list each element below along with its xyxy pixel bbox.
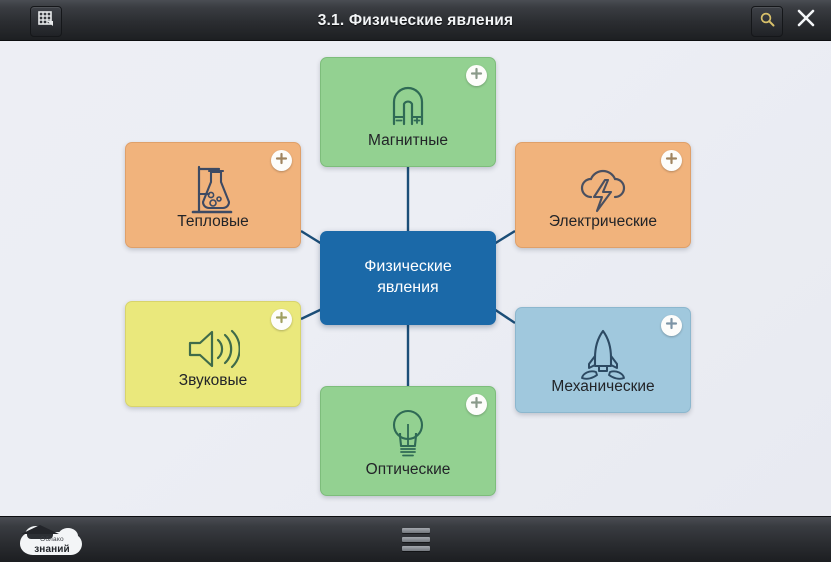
search-button[interactable] xyxy=(751,6,783,37)
node-magnetic[interactable]: Магнитные xyxy=(320,57,496,167)
flask-burner-icon xyxy=(189,164,237,221)
magnetic-icon-wrap xyxy=(321,78,495,136)
speaker-sound-icon xyxy=(186,327,240,376)
center-label: Физические явления xyxy=(352,257,463,299)
search-icon xyxy=(759,11,776,33)
horseshoe-magnet-icon xyxy=(386,82,430,133)
bottom-bar: Облако знаний xyxy=(0,516,831,562)
center-label-line1: Физические xyxy=(364,258,451,275)
mindmap-canvas[interactable]: Магнитные xyxy=(0,41,831,517)
center-label-line2: явления xyxy=(377,279,438,296)
node-optical[interactable]: Оптические xyxy=(320,386,496,496)
hamburger-menu-button[interactable] xyxy=(394,526,438,553)
application-window: 3.1. Физические явления xyxy=(0,0,831,562)
node-mechanical-label: Механические xyxy=(522,378,684,396)
node-thermal-label: Тепловые xyxy=(132,213,294,231)
graduation-cap-icon xyxy=(21,525,59,534)
close-icon xyxy=(795,7,817,34)
logo-line2: знаний xyxy=(23,545,81,555)
light-bulb-icon xyxy=(388,408,428,465)
node-thermal[interactable]: Тепловые xyxy=(125,142,301,248)
close-button[interactable] xyxy=(791,6,821,35)
node-mechanical[interactable]: Механические xyxy=(515,307,691,413)
node-electric-label: Электрические xyxy=(522,213,684,231)
node-electric[interactable]: Электрические xyxy=(515,142,691,248)
menu-bar-1 xyxy=(402,528,430,533)
logo-text: Облако знаний xyxy=(23,537,81,555)
logo-line1: Облако xyxy=(23,537,81,544)
oblako-znaniy-logo[interactable]: Облако знаний xyxy=(14,523,90,557)
page-title: 3.1. Физические явления xyxy=(0,0,831,41)
menu-bar-3 xyxy=(402,546,430,551)
node-magnetic-label: Магнитные xyxy=(327,132,489,150)
node-sound-label: Звуковые xyxy=(132,372,294,390)
node-sound[interactable]: Звуковые xyxy=(125,301,301,407)
optical-icon-wrap xyxy=(321,407,495,465)
node-optical-label: Оптические xyxy=(327,461,489,479)
menu-bar-2 xyxy=(402,537,430,542)
cloud-lightning-icon xyxy=(577,165,629,220)
node-center-physical-phenomena[interactable]: Физические явления xyxy=(320,231,496,325)
title-bar: 3.1. Физические явления xyxy=(0,0,831,41)
